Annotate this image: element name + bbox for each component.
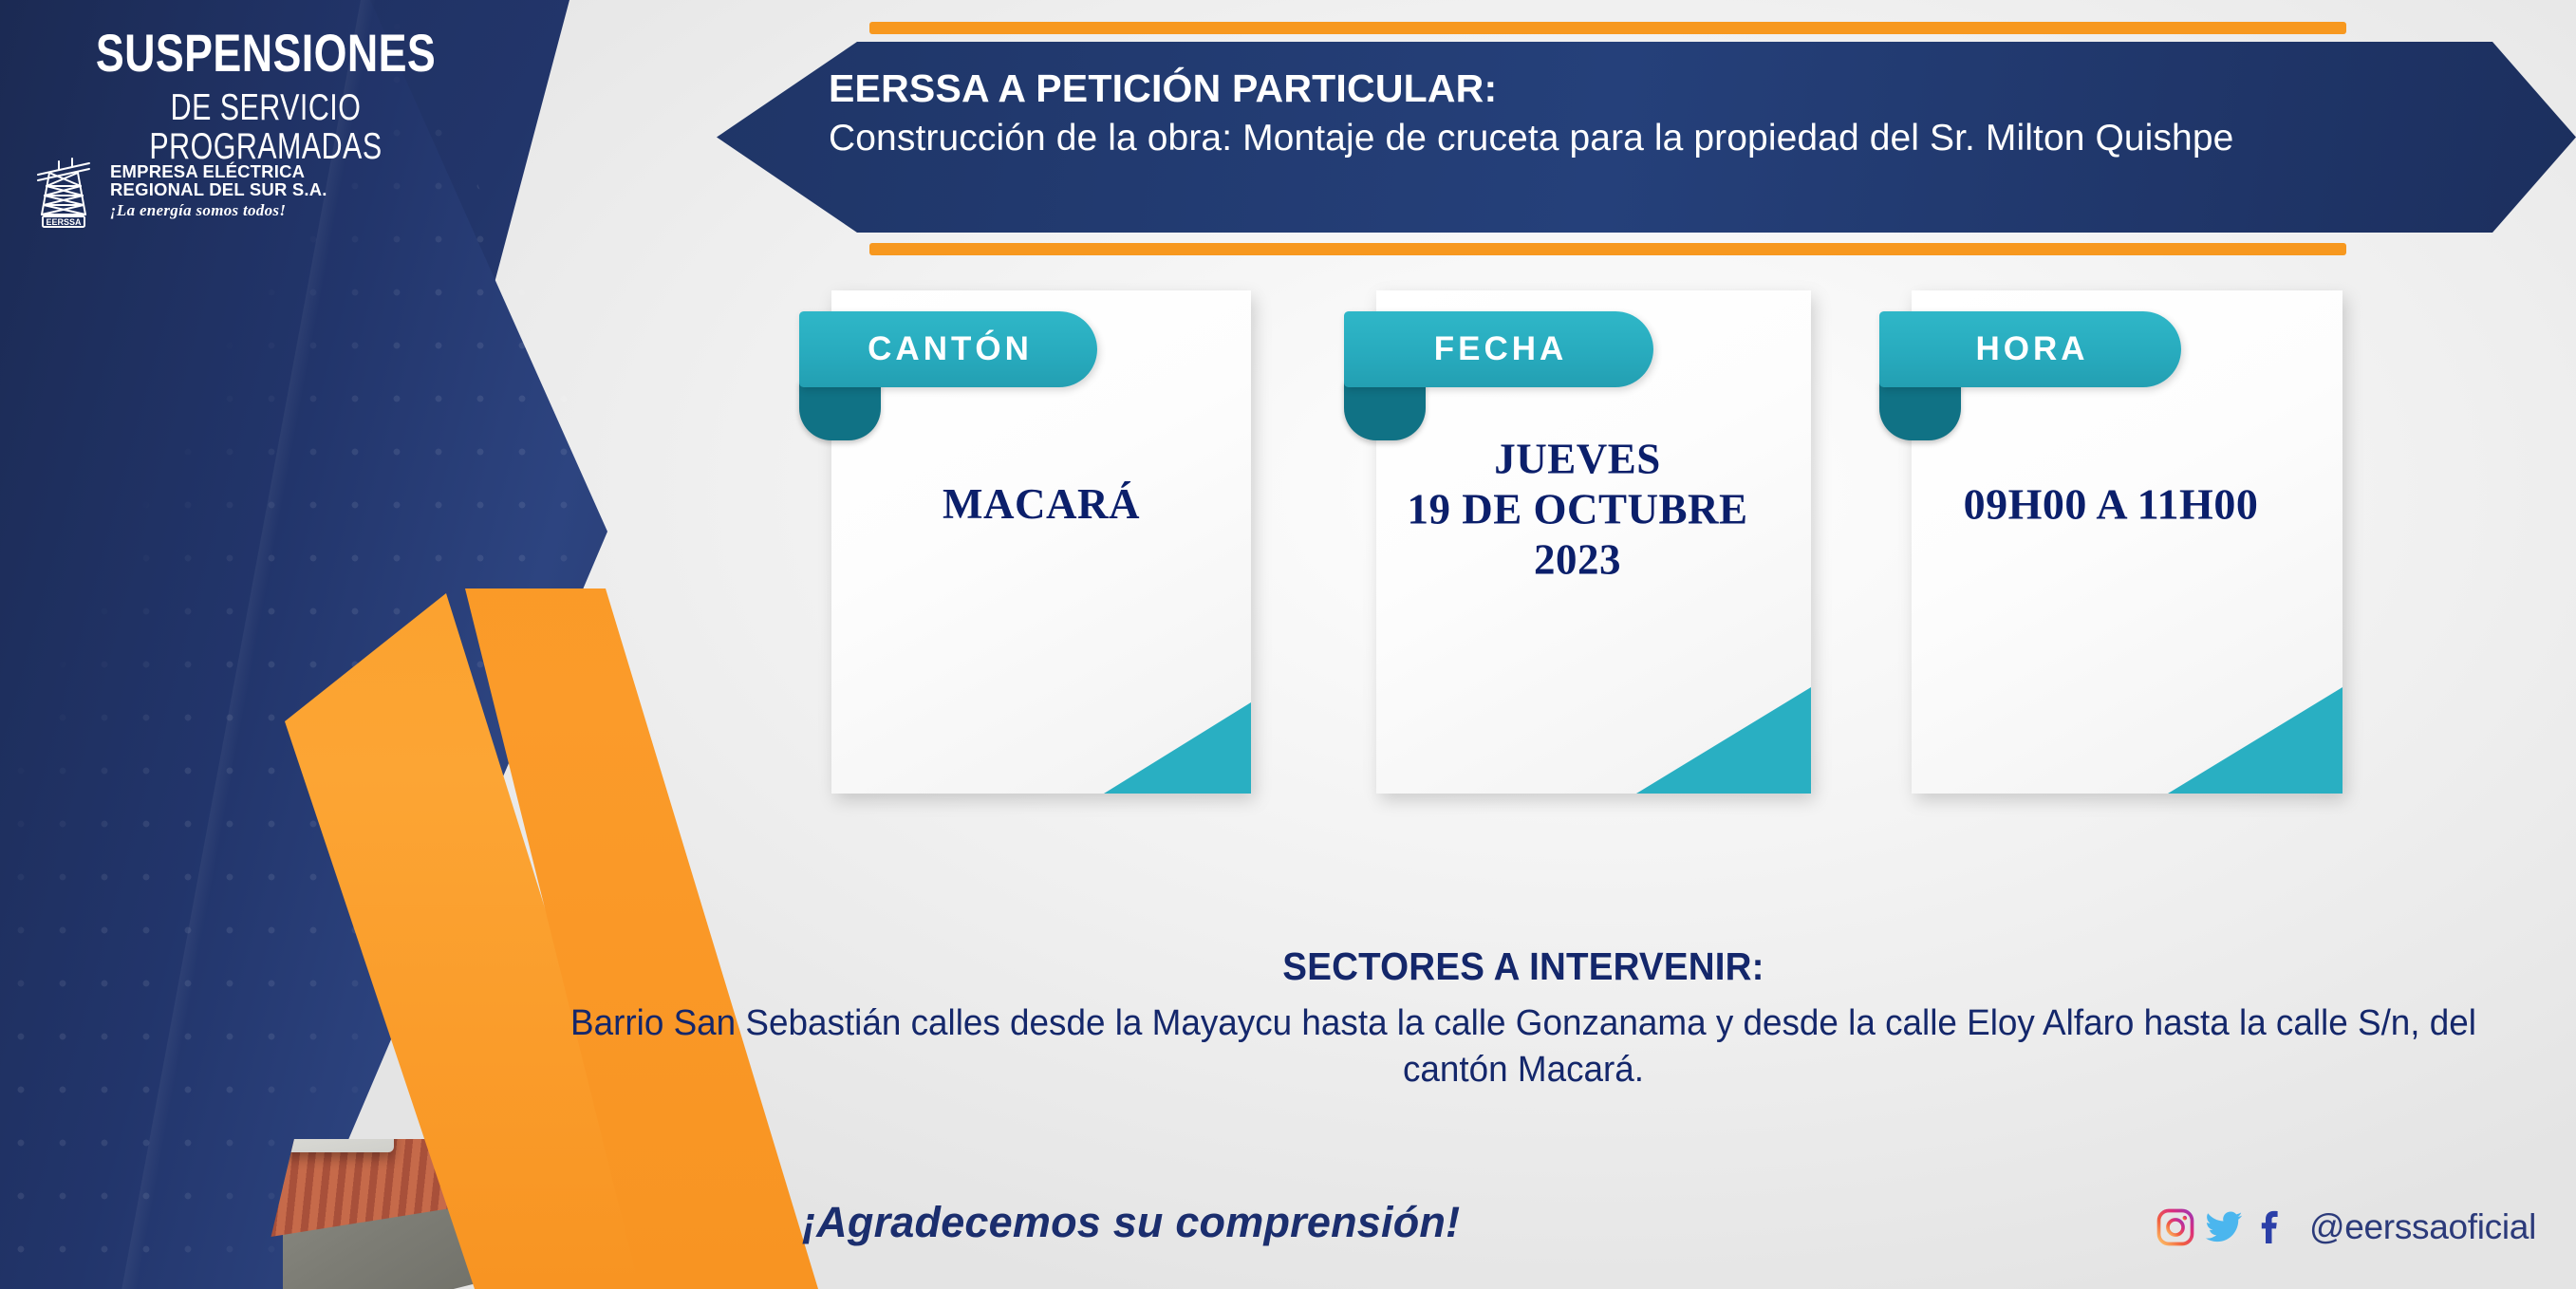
card-label-pill-hora: HORA: [1879, 311, 2181, 387]
card-value-fecha: JUEVES19 DE OCTUBRE2023: [1319, 434, 1836, 585]
transmission-tower-icon: EERSSA: [30, 154, 97, 228]
twitter-icon[interactable]: [2204, 1207, 2244, 1247]
info-card-hora: 09H00 A 11H00 HORA: [1879, 290, 2343, 794]
card-label-pill-fecha: FECHA: [1344, 311, 1653, 387]
pill-fold-shadow: [799, 382, 881, 440]
facebook-icon[interactable]: [2252, 1207, 2292, 1247]
card-label-canton: CANTÓN: [864, 330, 1033, 368]
poster-title-block: SUSPENSIONES DE SERVICIO PROGRAMADAS: [0, 27, 532, 167]
logo-line-1: EMPRESA ELÉCTRICA: [110, 162, 327, 181]
instagram-icon[interactable]: [2156, 1207, 2195, 1247]
logo-text-block: EMPRESA ELÉCTRICA REGIONAL DEL SUR S.A. …: [110, 162, 327, 219]
logo-line-2: REGIONAL DEL SUR S.A.: [110, 180, 327, 199]
header-title: EERSSA A PETICIÓN PARTICULAR:: [829, 66, 2528, 111]
sectors-body: Barrio San Sebastián calles desde la May…: [561, 1000, 2485, 1093]
card-corner-accent: [1104, 702, 1251, 794]
header-subtitle: Construcción de la obra: Montaje de cruc…: [829, 117, 2528, 161]
info-card-canton: MACARÁ CANTÓN: [799, 290, 1251, 794]
header-accent-bar-bottom: [869, 243, 2346, 255]
card-label-hora: HORA: [1971, 330, 2088, 368]
card-corner-accent: [1636, 687, 1811, 794]
pill-fold-shadow: [1879, 382, 1961, 440]
sectors-title: SECTORES A INTERVENIR:: [591, 944, 2456, 989]
card-label-fecha: FECHA: [1430, 330, 1568, 368]
info-card-fecha: JUEVES19 DE OCTUBRE2023 FECHA: [1344, 290, 1811, 794]
header-accent-bar-top: [869, 22, 2346, 34]
pill-fold-shadow: [1344, 382, 1426, 440]
info-cards-row: MACARÁ CANTÓN JUEVES19 DE OCTUBRE2023 FE…: [740, 285, 2373, 892]
card-label-pill-canton: CANTÓN: [799, 311, 1097, 387]
poster-canvas: SUSPENSIONES DE SERVICIO PROGRAMADAS EER…: [0, 0, 2576, 1289]
sectors-section: SECTORES A INTERVENIR: Barrio San Sebast…: [532, 944, 2515, 1093]
logo-slogan: ¡La energía somos todos!: [110, 202, 327, 219]
logo-mark-text: EERSSA: [46, 217, 82, 227]
eerssa-logo: EERSSA EMPRESA ELÉCTRICA REGIONAL DEL SU…: [30, 154, 327, 228]
title-main: SUSPENSIONES: [53, 27, 478, 80]
social-media-block: @eerssaoficial: [2156, 1207, 2536, 1247]
card-value-canton: MACARÁ: [831, 479, 1251, 530]
card-value-hora: 09H00 A 11H00: [1836, 478, 2386, 530]
thanks-message: ¡Agradecemos su comprensión!: [802, 1198, 1460, 1247]
header-text-block: EERSSA A PETICIÓN PARTICULAR: Construcci…: [829, 66, 2528, 161]
social-handle[interactable]: @eerssaoficial: [2309, 1207, 2536, 1247]
card-corner-accent: [2168, 687, 2343, 794]
